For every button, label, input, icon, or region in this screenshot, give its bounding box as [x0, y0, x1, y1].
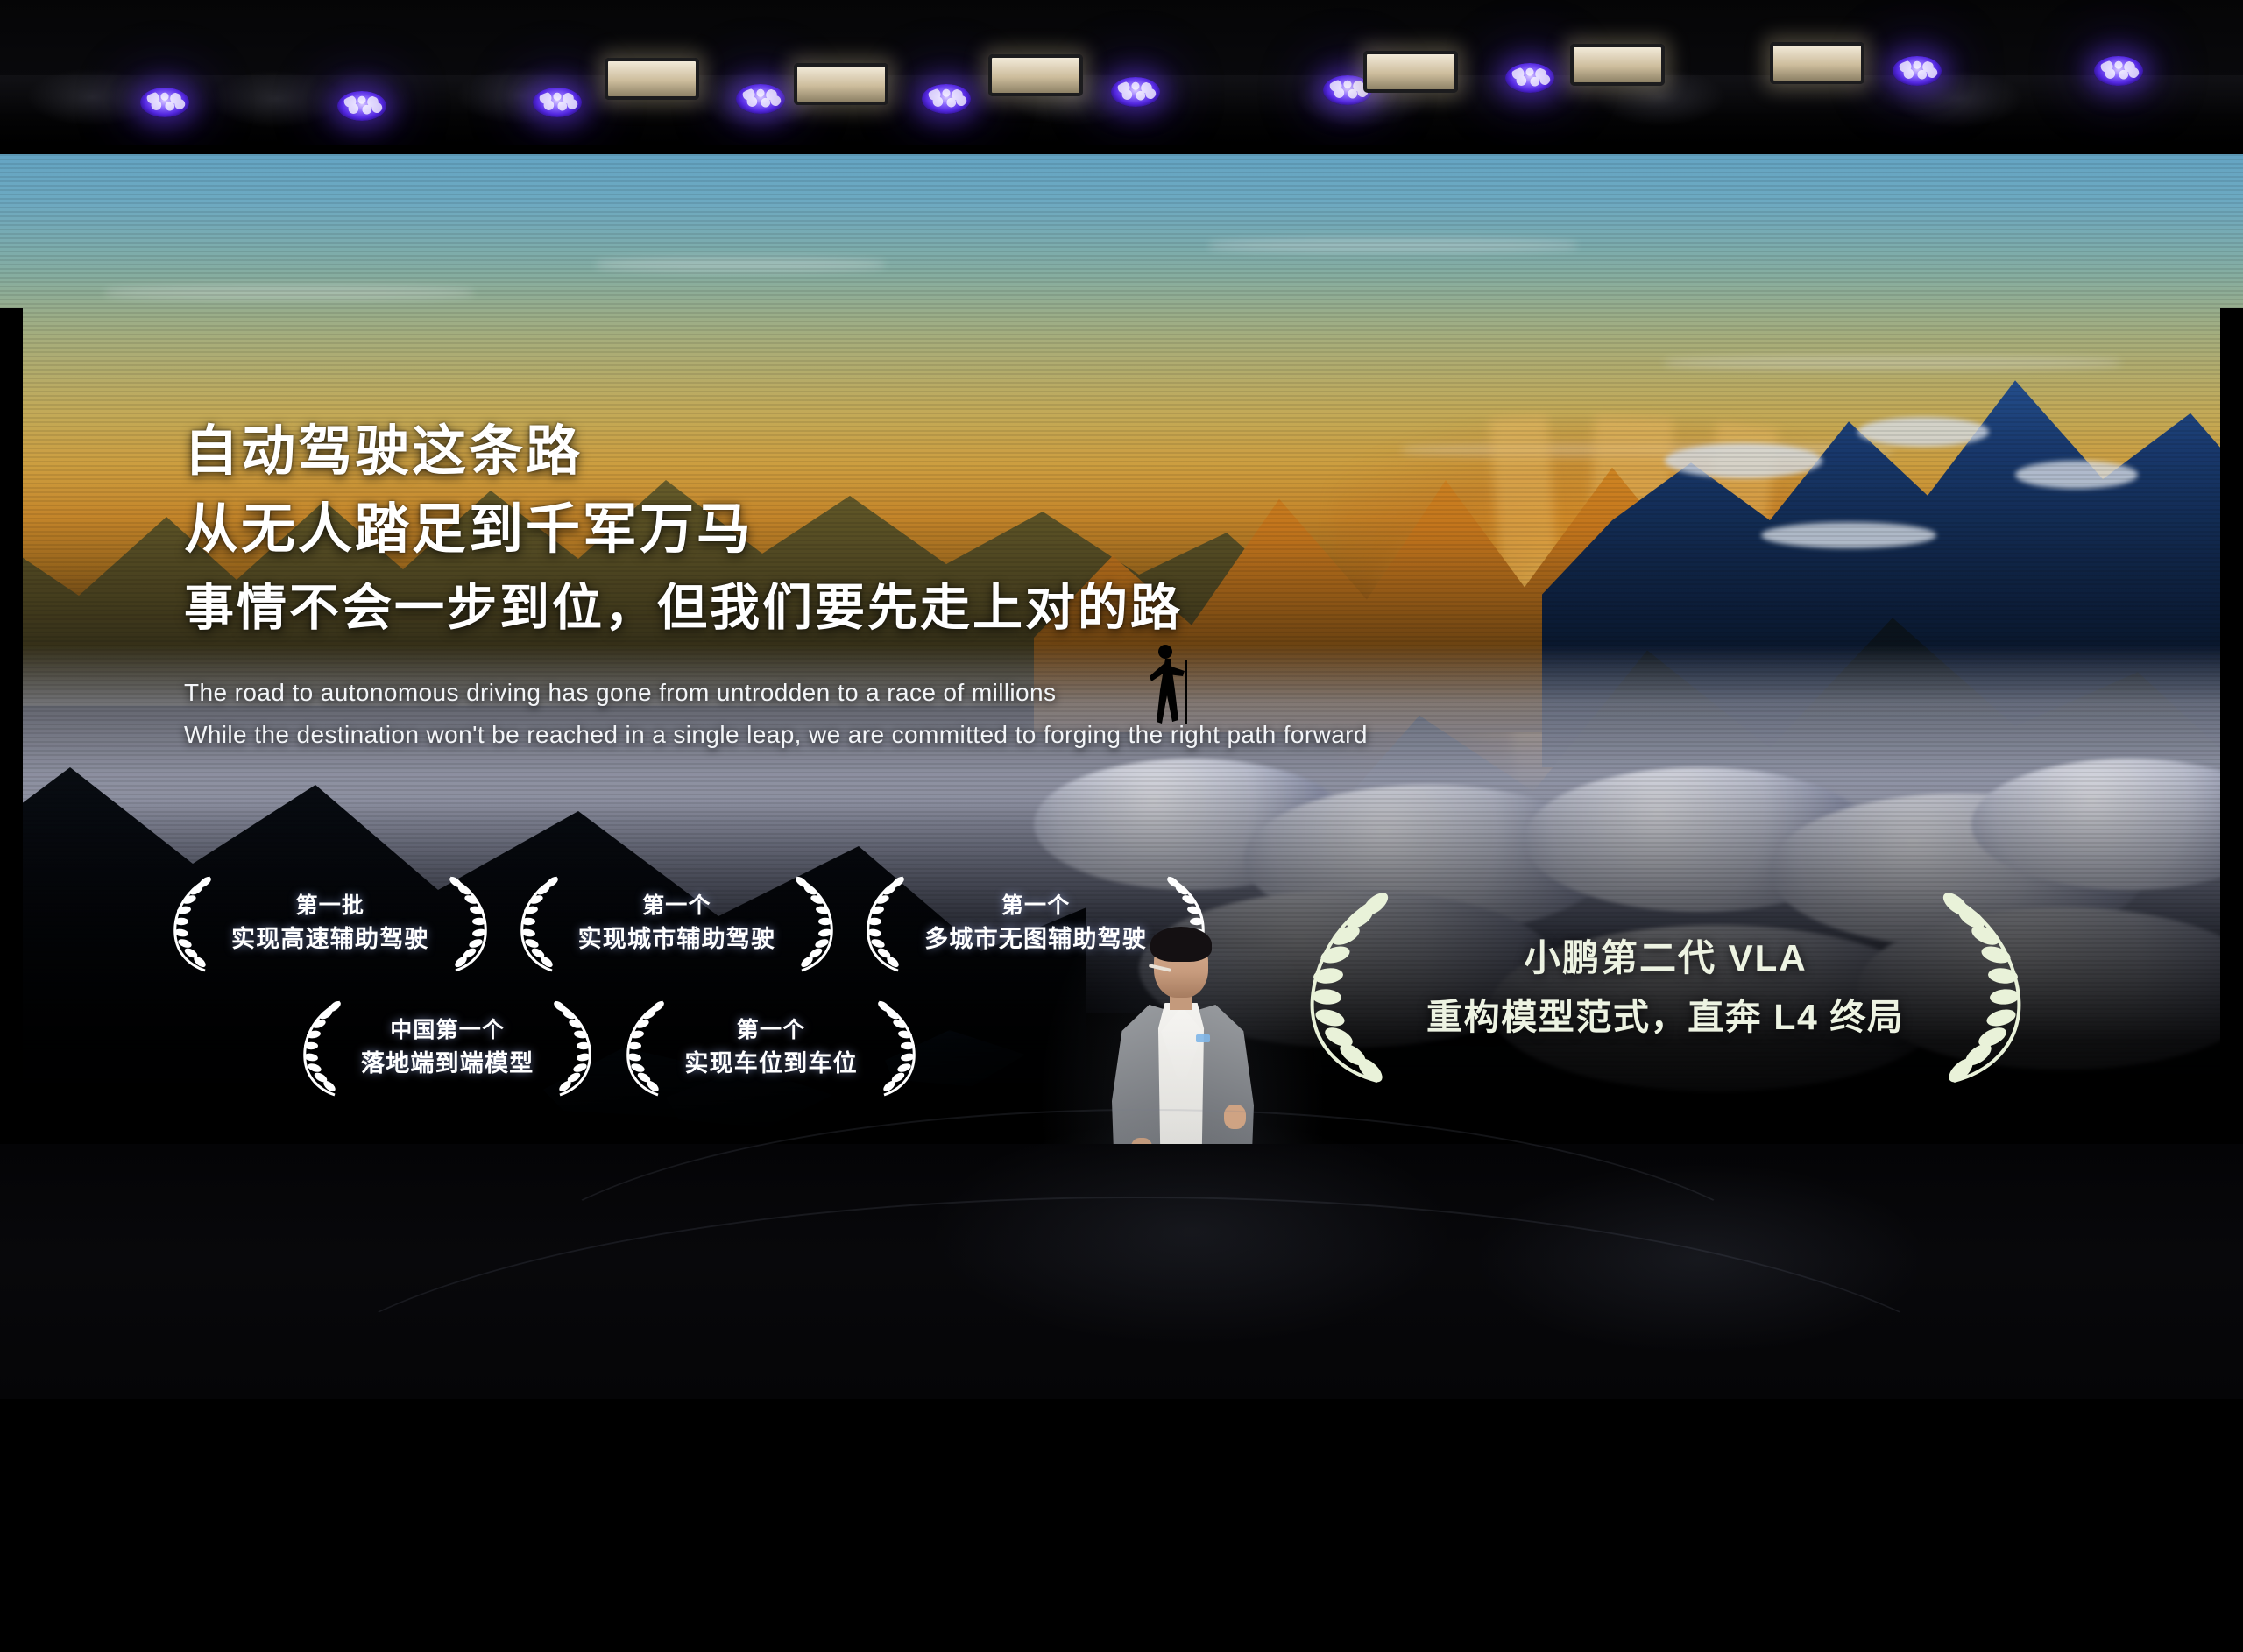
- badge-first-park-to-park: 第一个 实现车位到车位: [619, 997, 922, 1098]
- par-light-icon: [736, 84, 785, 114]
- par-light-icon: [1505, 63, 1554, 93]
- laurel-left-icon: [296, 997, 350, 1098]
- badge-bottom-label: 落地端到端模型: [361, 1047, 534, 1080]
- stage-scene: 自动驾驶这条路 从无人踏足到千军万马 事情不会一步到位，但我们要先走上对的路 T…: [0, 0, 2243, 1399]
- laurel-right-icon: [1929, 888, 2034, 1086]
- laurel-right-icon: [544, 997, 598, 1098]
- badge-top-label: 第一个: [578, 891, 776, 922]
- ceiling-truss: [0, 0, 2243, 145]
- spot-pool: [929, 1118, 1454, 1345]
- panel-light-icon: [605, 58, 699, 100]
- laurel-left-icon: [619, 997, 674, 1098]
- par-light-icon: [1893, 56, 1942, 86]
- laurel-right-icon: [786, 872, 840, 974]
- headline-line-1: 自动驾驶这条路: [184, 417, 1673, 488]
- panel-light-icon: [1363, 51, 1458, 93]
- badge-bottom-label: 实现城市辅助驾驶: [578, 922, 776, 956]
- panel-light-icon: [988, 54, 1083, 96]
- panel-light-icon: [1770, 42, 1864, 84]
- par-light-icon: [1111, 77, 1160, 107]
- badge-first-highway-ndp: 第一批 实现高速辅助驾驶: [166, 872, 494, 974]
- par-light-icon: [2094, 56, 2143, 86]
- feature-line-2: 重构模型范式，直奔 L4 终局: [1426, 988, 1905, 1046]
- badge-top-label: 中国第一个: [361, 1015, 534, 1047]
- panel-light-icon: [1570, 44, 1665, 86]
- par-light-icon: [533, 88, 582, 117]
- badge-top-label: 第一个: [924, 891, 1147, 922]
- par-light-icon: [922, 84, 971, 114]
- laurel-right-icon: [440, 872, 494, 974]
- brand-pin-icon: [1196, 1034, 1210, 1042]
- screen-bezel-right: [2220, 308, 2243, 1144]
- panel-light-icon: [794, 63, 888, 105]
- headline-line-2: 从无人踏足到千军万马: [184, 495, 1673, 566]
- badge-top-label: 第一个: [684, 1015, 857, 1047]
- badge-top-label: 第一批: [231, 891, 429, 922]
- laurel-left-icon: [166, 872, 221, 974]
- laurel-left-icon: [513, 872, 568, 974]
- par-light-icon: [337, 91, 386, 121]
- spot-pool: [1472, 1161, 1928, 1354]
- subtitle-line-1: The road to autonomous driving has gone …: [184, 679, 1673, 707]
- subtitle-line-2: While the destination won't be reached i…: [184, 721, 1673, 749]
- stage-floor: [0, 1144, 2243, 1399]
- laurel-right-icon: [868, 997, 923, 1098]
- badge-china-first-e2e-model: 中国第一个 落地端到端模型: [296, 997, 598, 1098]
- rig-shadow: [26, 68, 158, 126]
- headline-line-3: 事情不会一步到位，但我们要先走上对的路: [184, 575, 1673, 640]
- screen-bezel-left: [0, 308, 23, 1144]
- badge-bottom-label: 实现高速辅助驾驶: [231, 922, 429, 956]
- laurel-left-icon: [860, 872, 914, 974]
- badge-first-city-ndp: 第一个 实现城市辅助驾驶: [513, 872, 841, 974]
- badge-bottom-label: 实现车位到车位: [684, 1047, 857, 1080]
- hair: [1150, 927, 1212, 962]
- slide-copy: 自动驾驶这条路 从无人踏足到千军万马 事情不会一步到位，但我们要先走上对的路 T…: [184, 417, 1673, 749]
- rig-shadow: [210, 70, 342, 128]
- feature-laurel-badge: 小鹏第二代 VLA 重构模型范式，直奔 L4 终局: [1297, 888, 2034, 1086]
- feature-line-1: 小鹏第二代 VLA: [1426, 928, 1905, 988]
- par-light-icon: [140, 88, 189, 117]
